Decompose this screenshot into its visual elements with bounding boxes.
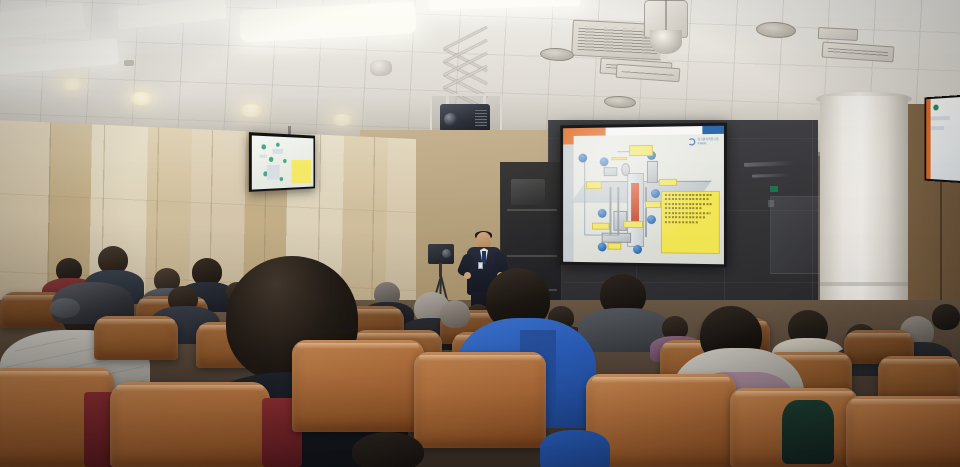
projection-screen-surface: 한국원자력연구원 KAERI — [563, 126, 724, 265]
ceiling-projector — [422, 42, 508, 142]
slide-node — [578, 154, 587, 163]
slide-side-accent — [563, 128, 574, 262]
projector-body — [440, 104, 490, 132]
monitor-callout-box — [291, 160, 310, 184]
slide-support-rod — [617, 187, 619, 235]
audience-head-gray — [440, 300, 470, 328]
wall-reflection — [768, 200, 774, 207]
slide-tag — [586, 181, 602, 189]
slide-tag — [659, 179, 677, 186]
blue-jacket-lower — [540, 430, 610, 467]
logo-mark-icon — [688, 138, 695, 145]
slide-tag — [611, 157, 627, 160]
audience-body — [782, 400, 834, 464]
wall-monitor-right — [924, 94, 960, 183]
projection-screen: 한국원자력연구원 KAERI — [560, 123, 727, 268]
slide-node — [598, 242, 607, 251]
audience-head — [932, 304, 960, 330]
column-band — [820, 282, 908, 286]
slide-callout-box — [661, 191, 720, 254]
auditorium-seat — [292, 340, 424, 432]
slide-tag — [645, 201, 661, 208]
presenter-badge — [478, 262, 483, 269]
sprinkler-head — [124, 60, 134, 66]
slide-connector — [584, 234, 619, 235]
auditorium-seat — [846, 396, 960, 467]
auditorium-seat — [110, 382, 270, 467]
wall-monitor-left — [249, 132, 315, 192]
wall-monitor-right-screen — [926, 97, 960, 182]
slide-connector — [584, 158, 585, 235]
slide-node — [651, 189, 660, 198]
hvac-diffuser — [818, 27, 859, 41]
auditorium-photo: 한국원자력연구원 KAERI — [0, 0, 960, 467]
exit-sign-icon — [770, 186, 778, 192]
wall-monitor-left-screen — [251, 135, 313, 189]
slide-logo: 한국원자력연구원 KAERI — [688, 138, 718, 145]
slide-component-box — [604, 167, 618, 176]
slide-tag — [608, 243, 622, 250]
auditorium-seat — [94, 316, 178, 360]
video-camera-icon — [428, 244, 454, 264]
slide-node — [600, 157, 609, 166]
audience-head — [352, 432, 424, 467]
projector-lens-icon — [444, 113, 457, 126]
slide-node — [647, 215, 656, 224]
ceiling-speaker-icon — [640, 0, 692, 58]
slide-tag — [592, 223, 610, 230]
slide-title-bar — [574, 126, 724, 136]
slide-support-rod — [645, 187, 647, 237]
slide-tag — [623, 221, 643, 228]
presenter-hand — [464, 272, 471, 279]
ceiling-sensor-icon — [369, 59, 392, 76]
cap-brim — [50, 298, 80, 318]
slide-node — [633, 245, 642, 254]
auditorium-seat — [414, 352, 546, 448]
scissor-lift-icon — [444, 42, 488, 98]
slide-logo-subtext: KAERI — [698, 142, 707, 145]
slide-component-round — [621, 163, 630, 176]
eyeglasses-icon — [340, 322, 356, 332]
slide-tag — [629, 145, 653, 156]
recessed-downlight — [60, 78, 84, 90]
slide-support-rod — [609, 187, 611, 235]
slide-node — [598, 209, 607, 218]
slide-core-element — [631, 183, 639, 223]
slide-component-tank — [647, 161, 658, 183]
